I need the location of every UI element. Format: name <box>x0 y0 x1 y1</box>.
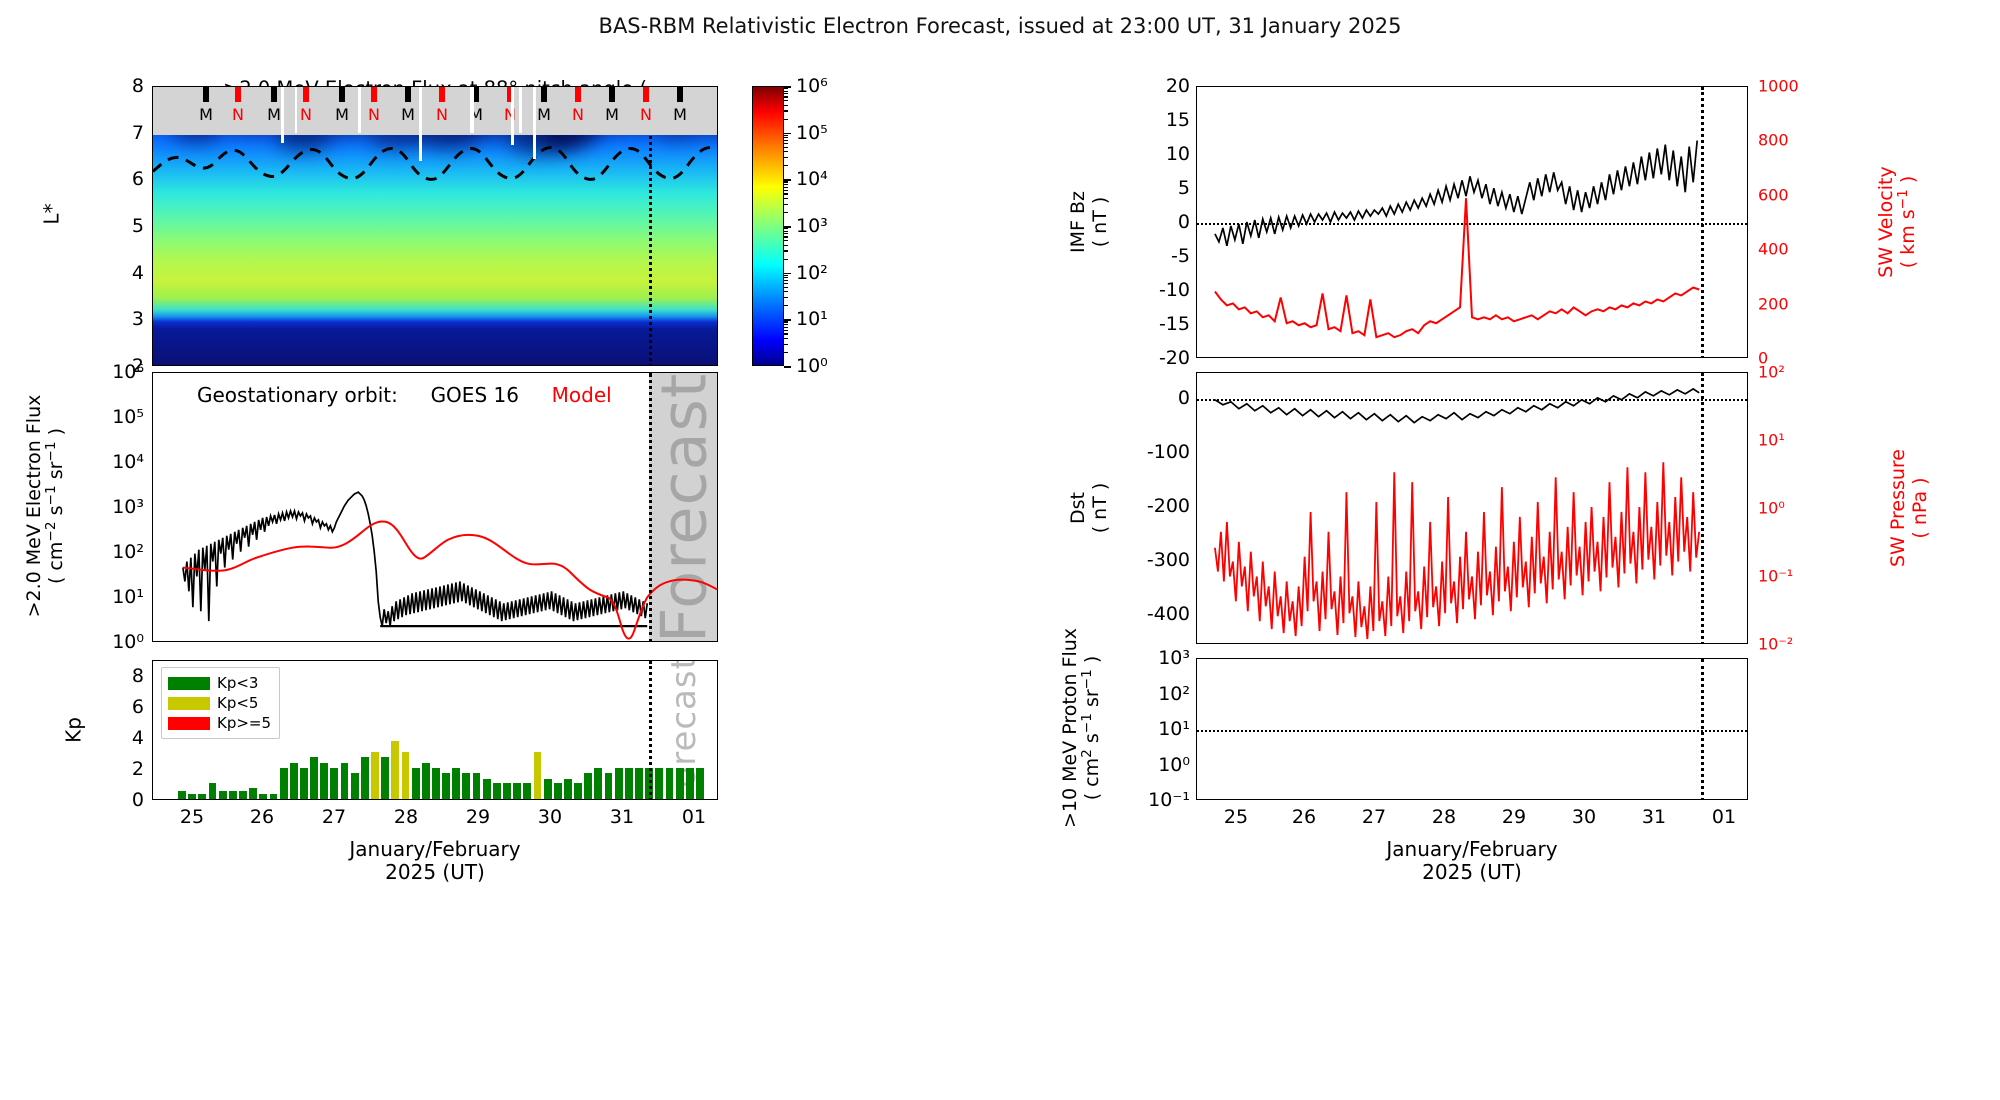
mn-tick <box>575 86 581 102</box>
panelD-plot-area <box>1196 86 1748 358</box>
kp-bar <box>371 752 379 799</box>
panelF-ytick: 10¹ <box>1158 718 1190 740</box>
mn-tick <box>643 86 649 102</box>
kp-bar <box>513 783 521 799</box>
kp-bar <box>239 791 247 799</box>
panelD-forecast-divider <box>1701 87 1704 358</box>
panelB-forecast-divider <box>649 373 652 642</box>
kp-legend-row: Kp<5 <box>168 693 271 713</box>
kp-bar <box>381 757 389 799</box>
panelF-ytick: 10³ <box>1158 647 1190 669</box>
kp-bar <box>503 783 511 799</box>
kp-bar <box>290 763 298 799</box>
panelE-plot-area <box>1196 372 1748 644</box>
panelA-yaxis: 8 7 6 5 4 3 2 <box>100 86 144 366</box>
kp-swatch-low <box>168 677 210 690</box>
kp-bar <box>442 773 450 799</box>
panelF-xtick: 01 <box>1712 806 1736 828</box>
panelE-ylabel-right: SW Pressure ( nPa ) <box>1888 398 1932 618</box>
colorbar-minor-tick <box>784 140 788 141</box>
panelB-ytick: 10⁰ <box>112 631 144 653</box>
colorbar-minor-tick <box>784 184 788 185</box>
kp-bar <box>341 763 349 799</box>
panelF-ytick: 10⁻¹ <box>1148 789 1190 811</box>
kp-bar <box>696 768 704 799</box>
panelC-ytick: 0 <box>132 789 144 811</box>
panelF-ytick: 10² <box>1158 683 1190 705</box>
kp-bar <box>198 794 206 799</box>
kp-bar <box>330 768 338 799</box>
panelF-threshold-line <box>1197 730 1747 732</box>
panelD-ytick-right: 600 <box>1758 185 1789 204</box>
data-gap-streak <box>419 87 422 161</box>
colorbar-minor-tick <box>784 305 788 306</box>
model-flux-trace <box>153 373 717 641</box>
colorbar-label: 10⁶ <box>796 75 828 97</box>
dst-trace <box>1197 373 1747 643</box>
mn-marker-band: M N M N M N M N M N M N M N M <box>153 87 717 135</box>
panelE-ytick-right: 10² <box>1758 363 1785 382</box>
panelE-yaxis-right: 10² 10¹ 10⁰ 10⁻¹ 10⁻² <box>1758 372 1828 644</box>
panelC-ytick: 8 <box>132 665 144 687</box>
kp-bar <box>523 783 531 799</box>
data-gap-streak <box>281 87 284 143</box>
panelB-ylabel: >2.0 MeV Electron Flux( cm−2 s−1 sr−1 ) <box>24 346 68 666</box>
panelA-ylabel: L* <box>41 154 64 274</box>
panelB-ytick: 10² <box>112 541 144 563</box>
panelA-ytick: 3 <box>132 308 144 330</box>
mn-tick <box>235 86 241 102</box>
kp-legend-row: Kp>=5 <box>168 713 271 733</box>
mn-tick <box>405 86 411 102</box>
imf-bz-trace <box>1197 87 1747 357</box>
kp-swatch-mid <box>168 697 210 710</box>
mn-label: M <box>673 105 687 124</box>
colorbar-major-tick <box>784 273 791 275</box>
kp-bar <box>422 763 430 799</box>
panelC-ytick: 2 <box>132 758 144 780</box>
panelC-forecast-divider <box>649 661 652 800</box>
colorbar-minor-tick <box>784 231 788 232</box>
mn-tick <box>271 86 277 102</box>
colorbar-minor-tick <box>784 88 788 89</box>
colorbar-label: 10² <box>796 262 828 284</box>
mn-label: N <box>368 105 380 124</box>
kp-bar <box>300 768 308 799</box>
panelE-yaxis-left: 0 -100 -200 -300 -400 <box>1140 372 1190 644</box>
panelE-ytick-right: 10¹ <box>1758 431 1785 450</box>
panelD-yaxis-left: 20 15 10 5 0 -5 -10 -15 -20 <box>1140 86 1190 358</box>
colorbar-label: 10¹ <box>796 308 828 330</box>
colorbar-minor-tick <box>784 283 788 284</box>
colorbar-minor-tick <box>784 277 788 278</box>
panelE-ytick-right: 10⁻² <box>1758 635 1793 654</box>
mn-tick <box>203 86 209 102</box>
kp-bar <box>219 791 227 799</box>
panelF-xlabel: January/February 2025 (UT) <box>1196 838 1748 884</box>
colorbar-minor-tick <box>784 137 788 138</box>
kp-swatch-high <box>168 717 210 730</box>
panelF-xtick: 30 <box>1572 806 1596 828</box>
colorbar-minor-tick <box>784 119 788 120</box>
panelE-ytick-left: 0 <box>1178 387 1190 409</box>
panelD-ytick-right: 400 <box>1758 240 1789 259</box>
mn-tick <box>371 86 377 102</box>
panelC-yaxis: 8 6 4 2 0 <box>100 660 144 800</box>
colorbar-major-tick <box>784 366 791 368</box>
mn-tick <box>609 86 615 102</box>
colorbar-minor-tick <box>784 93 788 94</box>
panelD-ytick-right: 1000 <box>1758 77 1799 96</box>
colorbar-minor-tick <box>784 250 788 251</box>
panelF-ylabel-l2: ( cm2 s−1 sr−1 ) <box>1081 656 1103 801</box>
colorbar-minor-tick <box>784 204 788 205</box>
panelB-plot-area: Forecast Geostationary orbit: GOES 16 Mo… <box>152 372 718 642</box>
colorbar-minor-tick <box>784 165 788 166</box>
colorbar-minor-tick <box>784 275 788 276</box>
panelF-plot-area <box>1196 658 1748 800</box>
colorbar-label: 10⁴ <box>796 168 828 190</box>
kp-legend-label: Kp<5 <box>217 694 258 712</box>
panelD-ytick-left: -5 <box>1171 245 1190 267</box>
panelD-ytick-left: -10 <box>1159 279 1190 301</box>
panelD-ytick-right: 800 <box>1758 131 1789 150</box>
kp-legend: Kp<3 Kp<5 Kp>=5 <box>161 667 280 739</box>
mn-label: M <box>537 105 551 124</box>
kp-bar <box>584 773 592 799</box>
panelC-xlabel: January/February 2025 (UT) <box>152 838 718 884</box>
colorbar-minor-tick <box>784 151 788 152</box>
kp-bar <box>361 757 369 799</box>
panelA-plot-area: Forecast M N M <box>152 86 718 366</box>
mn-label: N <box>640 105 652 124</box>
panelC-xtick: 27 <box>322 806 346 828</box>
kp-bar <box>666 768 674 799</box>
kp-bar <box>655 768 663 799</box>
kp-bar <box>310 757 318 799</box>
kp-bar <box>188 794 196 799</box>
kp-bar <box>402 752 410 799</box>
panelC-xtick: 28 <box>394 806 418 828</box>
colorbar-major-tick <box>784 179 791 181</box>
panelF-xtick: 28 <box>1432 806 1456 828</box>
colorbar-minor-tick <box>784 198 788 199</box>
kp-bar <box>594 768 602 799</box>
kp-bar <box>320 763 328 799</box>
kp-bar <box>249 788 257 799</box>
kp-bar <box>493 783 501 799</box>
kp-bar <box>229 791 237 799</box>
kp-bar <box>554 783 562 799</box>
panelD-ytick-left: 10 <box>1166 143 1190 165</box>
panelD-ytick-left: -20 <box>1159 347 1190 369</box>
colorbar-minor-tick <box>784 105 788 106</box>
kp-bar <box>452 768 460 799</box>
kp-bar <box>615 768 623 799</box>
colorbar-label: 10³ <box>796 215 828 237</box>
panelC-xtick: 29 <box>466 806 490 828</box>
panelE-ytick-right: 10⁰ <box>1758 499 1785 518</box>
colorbar-minor-tick <box>784 352 788 353</box>
panelF-xtick: 25 <box>1224 806 1248 828</box>
colorbar-minor-tick <box>784 181 788 182</box>
panelD-ytick-right: 200 <box>1758 294 1789 313</box>
panelB-ytick: 10³ <box>112 496 144 518</box>
panelC-plot-area: Forecast Kp<3 Kp<5 Kp>=5 <box>152 660 718 800</box>
panelD-yaxis-right: 1000 800 600 400 200 0 <box>1758 86 1828 358</box>
kp-bar <box>270 794 278 799</box>
panelF-ylabel: >10 MeV Proton Flux( cm2 s−1 sr−1 ) <box>1060 563 1104 893</box>
mn-label: N <box>436 105 448 124</box>
mn-label: N <box>300 105 312 124</box>
panelB-ytick: 10¹ <box>112 586 144 608</box>
kp-legend-label: Kp>=5 <box>217 714 271 732</box>
panelA-ytick: 8 <box>132 75 144 97</box>
kp-bar <box>564 779 572 799</box>
colorbar-minor-tick <box>784 110 788 111</box>
colorbar-minor-tick <box>784 157 788 158</box>
colorbar-minor-tick <box>784 143 788 144</box>
panelC-xtick: 26 <box>250 806 274 828</box>
panelE-ytick-left: -200 <box>1147 495 1190 517</box>
mn-tick <box>439 86 445 102</box>
panelE-ytick-right: 10⁻¹ <box>1758 567 1793 586</box>
kp-bar <box>605 773 613 799</box>
forecast-dashboard: BAS-RBM Relativistic Electron Forecast, … <box>0 0 2000 1100</box>
colorbar-minor-tick <box>784 291 788 292</box>
colorbar-minor-tick <box>784 100 788 101</box>
panelC-ylabel: Kp <box>63 680 86 780</box>
colorbar-minor-tick <box>784 330 788 331</box>
page-title: BAS-RBM Relativistic Electron Forecast, … <box>0 14 2000 38</box>
colorbar-minor-tick <box>784 324 788 325</box>
colorbar-minor-tick <box>784 333 788 334</box>
panelB-ytick: 10⁵ <box>112 406 144 428</box>
panelC-xtick: 31 <box>610 806 634 828</box>
panelB-ylabel-l1: >2.0 MeV Electron Flux <box>23 395 45 618</box>
mn-label: N <box>504 105 516 124</box>
panelE-forecast-divider <box>1701 373 1704 644</box>
colorbar-major-tick <box>784 319 791 321</box>
colorbar-minor-tick <box>784 327 788 328</box>
colorbar-minor-tick <box>784 297 788 298</box>
panelB-ylabel-l2: ( cm−2 s−1 sr−1 ) <box>45 428 67 584</box>
kp-bar <box>676 768 684 799</box>
colorbar-minor-tick <box>784 187 788 188</box>
colorbar-minor-tick <box>784 193 788 194</box>
panelE-ytick-left: -300 <box>1147 549 1190 571</box>
kp-bar <box>280 768 288 799</box>
panelC-ytick: 6 <box>132 696 144 718</box>
colorbar-minor-tick <box>784 228 788 229</box>
data-gap-streak <box>295 87 297 133</box>
colorbar-major-tick <box>784 226 791 228</box>
data-gap-streak <box>533 87 536 159</box>
panelC-xtick: 25 <box>180 806 204 828</box>
panelE-ytick-left: -400 <box>1147 603 1190 625</box>
panelA-ytick: 5 <box>132 215 144 237</box>
colorbar-major-tick <box>784 86 791 88</box>
colorbar-minor-tick <box>784 135 788 136</box>
kp-bar <box>534 752 542 799</box>
kp-bar <box>462 773 470 799</box>
panelF-yaxis: 10³ 10² 10¹ 10⁰ 10⁻¹ <box>1128 658 1190 800</box>
colorbar-minor-tick <box>784 344 788 345</box>
colorbar-minor-tick <box>784 147 788 148</box>
mn-tick <box>541 86 547 102</box>
mn-tick <box>677 86 683 102</box>
data-gap-streak <box>470 87 474 133</box>
data-gap-streak <box>358 87 361 133</box>
panelB-yaxis: 10⁶ 10⁵ 10⁴ 10³ 10² 10¹ 10⁰ <box>84 372 144 642</box>
kp-bar <box>686 768 694 799</box>
kp-bar <box>209 783 217 799</box>
kp-bar <box>625 768 633 799</box>
kp-bar <box>483 779 491 799</box>
colorbar-minor-tick <box>784 233 788 234</box>
kp-legend-row: Kp<3 <box>168 673 271 693</box>
kp-bar <box>259 794 267 799</box>
panelF-xtick: 26 <box>1292 806 1316 828</box>
colorbar-minor-tick <box>784 212 788 213</box>
colorbar-minor-tick <box>784 259 788 260</box>
kp-bar <box>412 768 420 799</box>
colorbar-minor-tick <box>784 96 788 97</box>
mn-label: N <box>232 105 244 124</box>
panelD-ytick-left: 15 <box>1166 109 1190 131</box>
data-gap-streak <box>519 87 522 133</box>
data-gap-streak <box>511 87 514 145</box>
kp-bar <box>574 783 582 799</box>
kp-bar <box>178 791 186 799</box>
kp-legend-label: Kp<3 <box>217 674 258 692</box>
panelD-ylabel-left: IMF Bz ( nT ) <box>1068 122 1112 322</box>
mn-label: M <box>335 105 349 124</box>
colorbar-label: 10⁰ <box>796 355 828 377</box>
kp-bar <box>391 741 399 799</box>
panelF-forecast-divider <box>1701 659 1704 800</box>
colorbar-major-tick <box>784 133 791 135</box>
kp-bar <box>473 773 481 799</box>
colorbar-label: 10⁵ <box>796 122 828 144</box>
panelA-ytick: 6 <box>132 168 144 190</box>
colorbar-minor-tick <box>784 240 788 241</box>
colorbar-minor-tick <box>784 280 788 281</box>
panelA-ytick: 4 <box>132 262 144 284</box>
mn-label: M <box>199 105 213 124</box>
panelF-xtick: 29 <box>1502 806 1526 828</box>
panelC-ytick: 4 <box>132 727 144 749</box>
mn-label: N <box>572 105 584 124</box>
mn-tick <box>303 86 309 102</box>
mn-label: M <box>401 105 415 124</box>
colorbar-scale: 10⁶ 10⁵ 10⁴ 10³ 10² 10¹ 10⁰ <box>752 86 882 366</box>
panelC-xtick: 30 <box>538 806 562 828</box>
colorbar-minor-tick <box>784 321 788 322</box>
kp-bar <box>351 773 359 799</box>
panelD-ylabel-right: SW Velocity( km s−1 ) <box>1876 112 1920 332</box>
colorbar-minor-tick <box>784 236 788 237</box>
panelF-ytick: 10⁰ <box>1158 754 1190 776</box>
panelA-ytick: 7 <box>132 122 144 144</box>
mn-label: M <box>605 105 619 124</box>
panelE-ytick-left: -100 <box>1147 441 1190 463</box>
panelD-ytick-left: 20 <box>1166 75 1190 97</box>
panelD-ytick-left: 0 <box>1178 211 1190 233</box>
panelC-xtick: 01 <box>682 806 706 828</box>
panelB-ytick: 10⁶ <box>112 361 144 383</box>
kp-bar <box>432 768 440 799</box>
mn-label: M <box>267 105 281 124</box>
colorbar-minor-tick <box>784 91 788 92</box>
colorbar-minor-tick <box>784 287 788 288</box>
panelD-ytick-left: -15 <box>1159 313 1190 335</box>
colorbar-minor-tick <box>784 190 788 191</box>
kp-bar <box>635 768 643 799</box>
kp-bar <box>544 779 552 799</box>
panelF-xtick: 31 <box>1642 806 1666 828</box>
colorbar-minor-tick <box>784 338 788 339</box>
panelF-xtick: 27 <box>1362 806 1386 828</box>
panelD-ytick-left: 5 <box>1178 177 1190 199</box>
colorbar-minor-tick <box>784 245 788 246</box>
mn-tick <box>339 86 345 102</box>
panelB-ytick: 10⁴ <box>112 451 144 473</box>
